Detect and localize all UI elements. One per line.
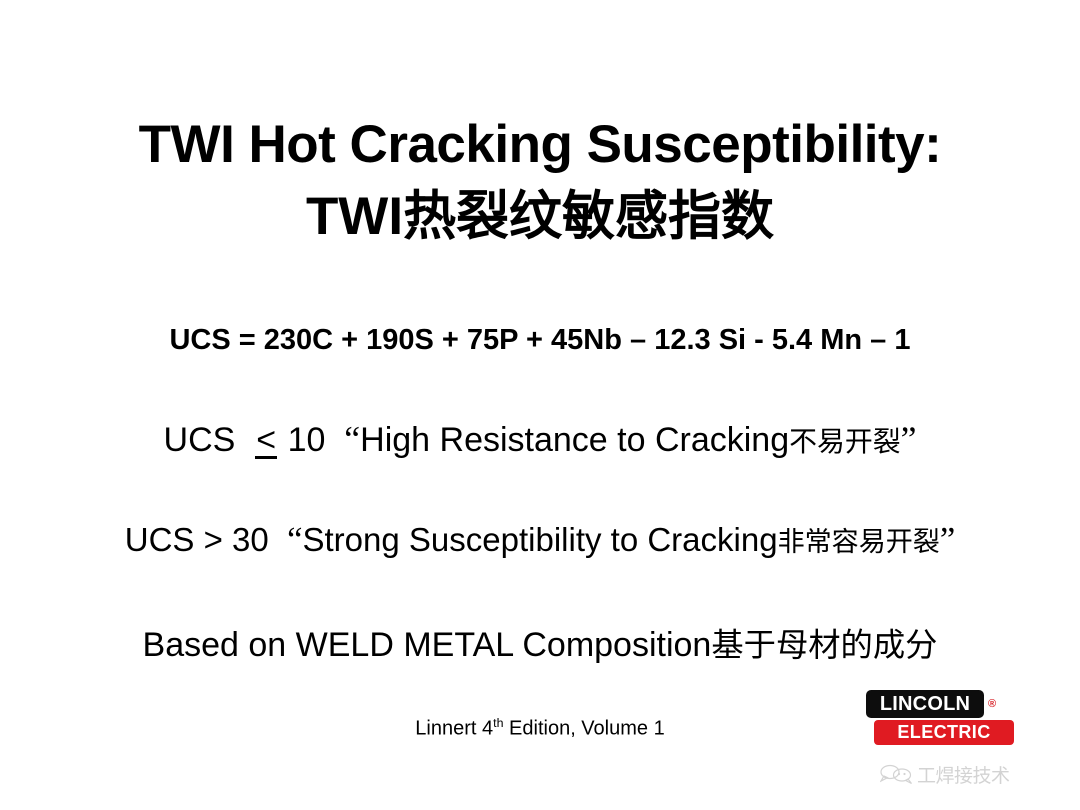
page-title: TWI Hot Cracking Susceptibility: [0, 118, 1080, 171]
statement-basis: Based on WELD METAL Composition基于母材的成分 [0, 620, 1080, 666]
registered-trademark-icon: ® [988, 699, 996, 710]
slide-canvas: TWI Hot Cracking Susceptibility: TWI热裂纹敏… [0, 0, 1080, 810]
statement-high-english: Strong Susceptibility to Cracking [303, 521, 778, 558]
greater-than-symbol: > [204, 521, 223, 558]
statement-low-prefix: UCS [164, 421, 236, 459]
statement-high-ucs: UCS > 30 “Strong Susceptibility to Crack… [0, 520, 1080, 560]
page-subtitle: TWI热裂纹敏感指数 [0, 190, 1080, 243]
statement-low-chinese: 不易开裂 [789, 425, 901, 458]
underline-stroke [255, 456, 277, 459]
statement-high-chinese: 非常容易开裂 [778, 527, 940, 558]
logo-bottom-text: ELECTRIC [874, 720, 1014, 745]
page-subtitle-latin: TWI [306, 187, 403, 246]
statement-low-english: High Resistance to Cracking [360, 421, 789, 459]
statement-low-close-quote: ” [901, 419, 917, 459]
statement-high-close-quote: ” [940, 521, 955, 559]
statement-low-ucs: UCS < 10 “High Resistance to Cracking不易开… [0, 418, 1080, 460]
watermark-text: 工焊接技术 [917, 761, 1010, 788]
statement-basis-chinese: 基于母材的成分 [711, 626, 937, 664]
citation-ordinal-suffix: th [493, 716, 503, 730]
statement-high-threshold: 30 [232, 521, 269, 558]
statement-high-prefix: UCS [125, 521, 195, 558]
citation-author: Linnert 4 [415, 718, 493, 740]
page-subtitle-chinese: 热裂纹敏感指数 [403, 186, 774, 247]
citation-rest: Edition, Volume 1 [503, 718, 664, 740]
statement-low-open-quote: “ [344, 419, 360, 459]
statement-low-threshold: 10 [288, 421, 326, 459]
lincoln-electric-logo: LINCOLN ® ELECTRIC [866, 690, 1016, 748]
ucs-formula: UCS = 230C + 190S + 75P + 45Nb – 12.3 Si… [0, 324, 1080, 357]
statement-basis-english: Based on WELD METAL Composition [143, 626, 712, 664]
less-than-or-equal-icon: < [254, 421, 278, 460]
less-than-or-equal-symbol: < [256, 421, 276, 459]
statement-high-open-quote: “ [287, 521, 302, 559]
watermark: 工焊接技术 [880, 757, 1080, 791]
speech-bubble-icon [880, 763, 914, 785]
logo-top-text: LINCOLN [866, 690, 984, 718]
